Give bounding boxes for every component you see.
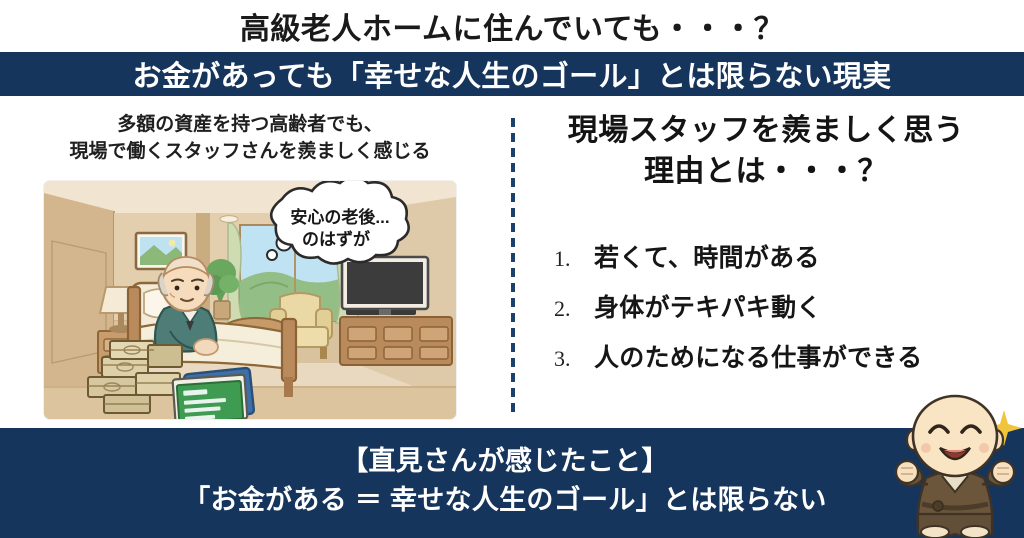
- list-item: 1. 若くて、時間がある: [536, 238, 1024, 274]
- left-caption: 多額の資産を持つ高齢者でも、 現場で働くスタッフさんを羨ましく感じる: [0, 112, 500, 166]
- list-item-number: 3.: [554, 346, 584, 372]
- vertical-dashed-divider: [511, 118, 515, 418]
- left-caption-line-2: 現場で働くスタッフさんを羨ましく感じる: [0, 139, 500, 166]
- bottom-line-2: 「お金がある ＝ 幸せな人生のゴール」とは限らない: [0, 481, 1010, 520]
- svg-text:のはずが: のはずが: [302, 229, 370, 249]
- list-item: 2. 身体がテキパキ動く: [536, 288, 1024, 324]
- left-caption-line-1: 多額の資産を持つ高齢者でも、: [0, 112, 500, 139]
- svg-text:安心の老後...: 安心の老後...: [290, 207, 389, 227]
- bottom-summary-band: 【直見さんが感じたこと】 「お金がある ＝ 幸せな人生のゴール」とは限らない: [0, 428, 1024, 538]
- list-item-label: 若くて、時間がある: [594, 238, 820, 274]
- list-item-label: 人のためになる仕事ができる: [594, 338, 922, 374]
- page-title: 高級老人ホームに住んでいても・・・？: [0, 0, 1024, 52]
- right-column: 現場スタッフを羨ましく思う 理由とは・・・？ 1. 若くて、時間がある 2. 身…: [516, 96, 1024, 426]
- list-item: 3. 人のためになる仕事ができる: [536, 338, 1024, 374]
- left-column: 多額の資産を持つ高齢者でも、 現場で働くスタッフさんを羨ましく感じる: [0, 96, 500, 426]
- list-item-label: 身体がテキパキ動く: [594, 288, 822, 324]
- header-subtitle-band: お金があっても「幸せな人生のゴール」とは限らない現実: [0, 52, 1024, 96]
- list-item-number: 2.: [554, 296, 584, 322]
- bottom-summary-text: 【直見さんが感じたこと】 「お金がある ＝ 幸せな人生のゴール」とは限らない: [0, 442, 1010, 520]
- care-home-illustration: 安心の老後... のはずが: [44, 181, 456, 419]
- right-heading-line-1: 現場スタッフを羨ましく思う: [516, 110, 1016, 151]
- right-heading-line-2: 理由とは・・・？: [516, 151, 1016, 192]
- right-heading: 現場スタッフを羨ましく思う 理由とは・・・？: [516, 110, 1016, 193]
- smiling-monk-character: [886, 392, 1024, 538]
- bottom-line-1: 【直見さんが感じたこと】: [0, 442, 1010, 481]
- reasons-list: 1. 若くて、時間がある 2. 身体がテキパキ動く 3. 人のためになる仕事がで…: [536, 238, 1024, 388]
- list-item-number: 1.: [554, 246, 584, 272]
- infographic-canvas: 高級老人ホームに住んでいても・・・？ お金があっても「幸せな人生のゴール」とは限…: [0, 0, 1024, 538]
